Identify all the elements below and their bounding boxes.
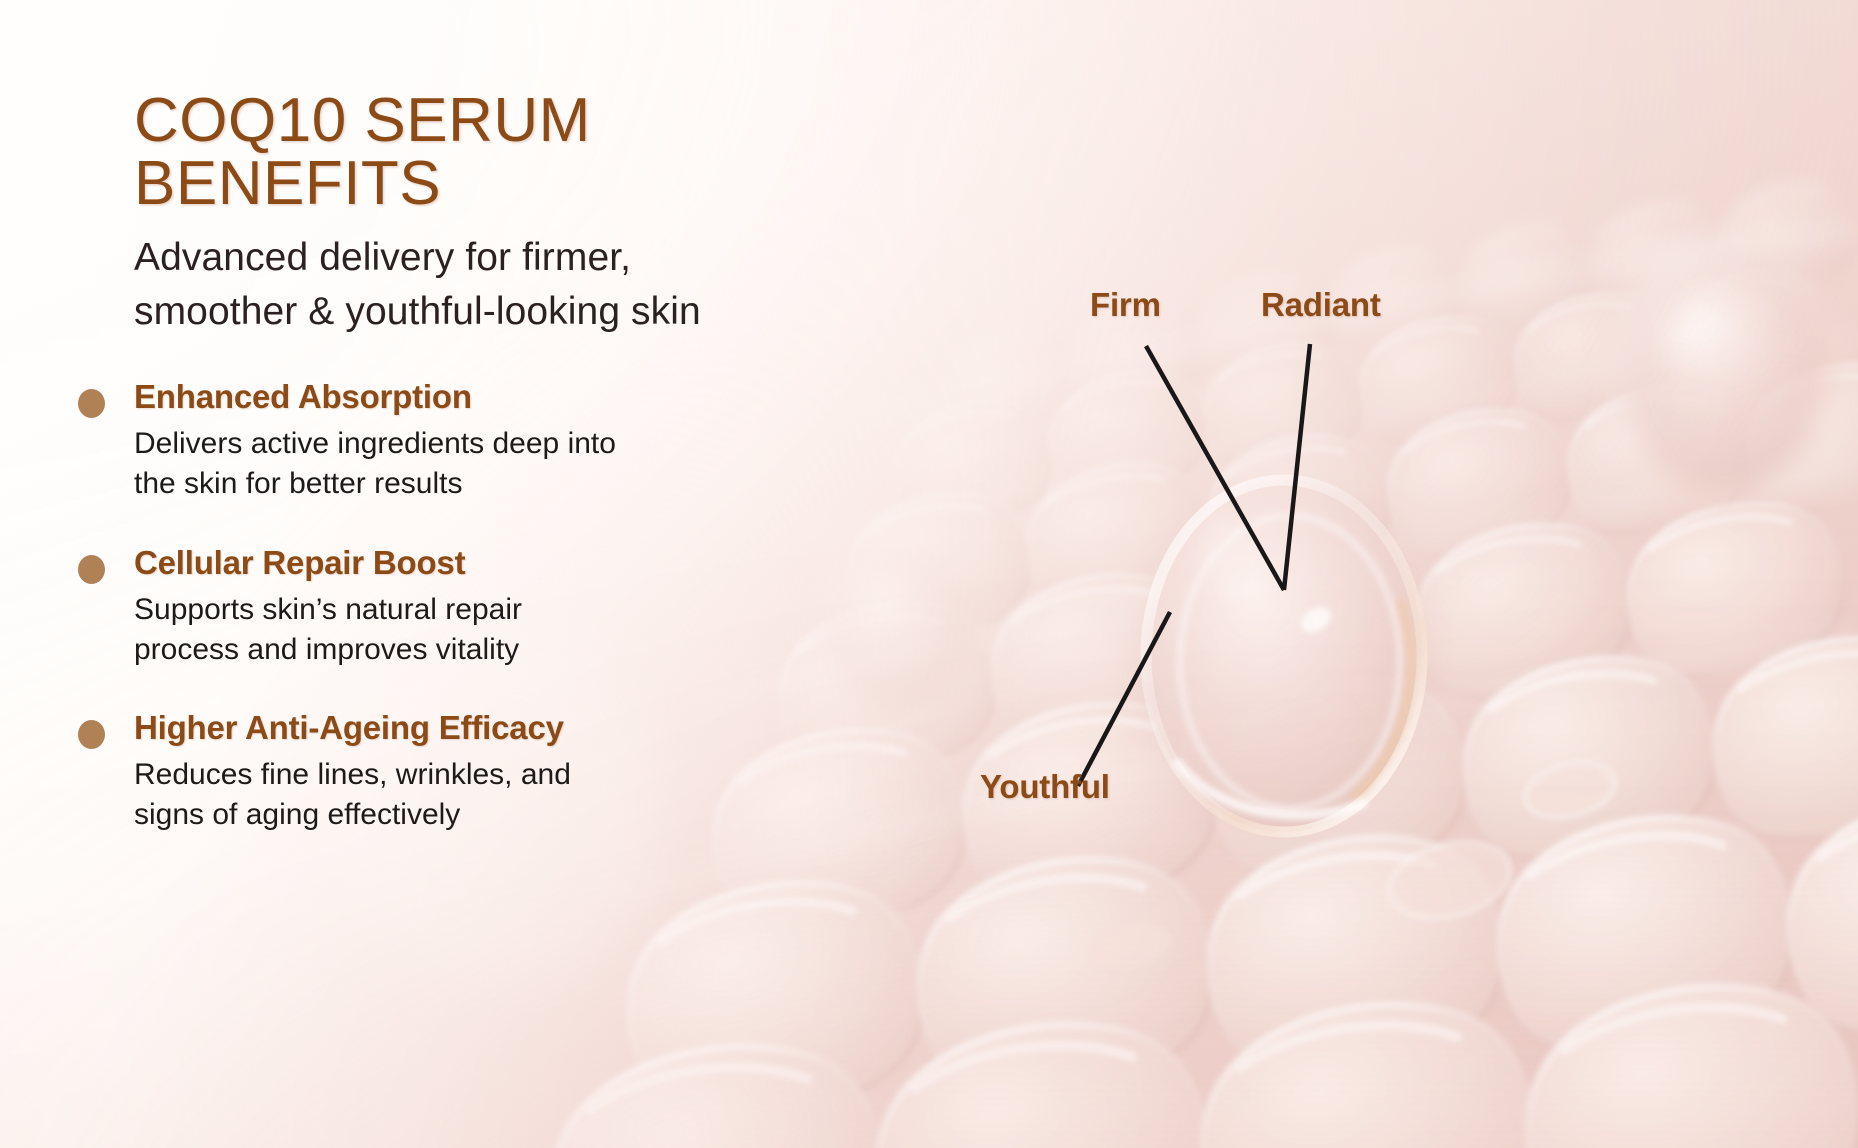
bullet-dot-icon xyxy=(78,555,105,584)
bubble-top-right xyxy=(1622,244,1830,500)
benefit-description-line-1: Supports skin’s natural repair xyxy=(134,593,522,626)
subtitle-line-2: smoother & youthful-looking skin xyxy=(134,285,924,339)
bullet-dot-icon xyxy=(78,720,105,749)
benefit-description-line-2: the skin for better results xyxy=(134,464,778,504)
callout-label-youthful: Youthful xyxy=(980,768,1110,806)
infographic-canvas: COQ10 SERUM BENEFITS Advanced delivery f… xyxy=(0,0,1858,1148)
benefit-description-line-1: Reduces fine lines, wrinkles, and xyxy=(134,758,571,791)
hero-serum-bubble xyxy=(1141,480,1427,840)
benefit-description: Supports skin’s natural repair process a… xyxy=(134,590,778,670)
benefit-item: Cellular Repair Boost Supports skin’s na… xyxy=(78,544,778,670)
bullet-dot-icon xyxy=(78,389,105,418)
benefit-description: Delivers active ingredients deep into th… xyxy=(134,424,778,504)
benefit-description-line-2: process and improves vitality xyxy=(134,630,778,670)
callout-label-radiant: Radiant xyxy=(1261,286,1381,324)
benefit-heading: Cellular Repair Boost xyxy=(134,544,778,583)
title-line-1: COQ10 SERUM xyxy=(134,86,591,155)
callout-label-firm: Firm xyxy=(1090,286,1161,324)
benefit-item: Higher Anti-Ageing Efficacy Reduces fine… xyxy=(78,709,778,835)
benefit-description-line-2: signs of aging effectively xyxy=(134,795,778,835)
benefit-heading: Enhanced Absorption xyxy=(134,378,778,417)
subtitle-line-1: Advanced delivery for firmer, xyxy=(134,236,631,279)
benefit-description: Reduces fine lines, wrinkles, and signs … xyxy=(134,755,778,835)
title-line-2: BENEFITS xyxy=(134,152,834,216)
benefit-heading: Higher Anti-Ageing Efficacy xyxy=(134,709,778,748)
copy-column: COQ10 SERUM BENEFITS Advanced delivery f… xyxy=(0,0,960,1148)
benefits-list: Enhanced Absorption Delivers active ingr… xyxy=(78,378,778,835)
benefit-description-line-1: Delivers active ingredients deep into xyxy=(134,427,616,460)
benefit-item: Enhanced Absorption Delivers active ingr… xyxy=(78,378,778,504)
page-subtitle: Advanced delivery for firmer, smoother &… xyxy=(134,231,924,339)
page-title: COQ10 SERUM BENEFITS xyxy=(134,89,834,217)
